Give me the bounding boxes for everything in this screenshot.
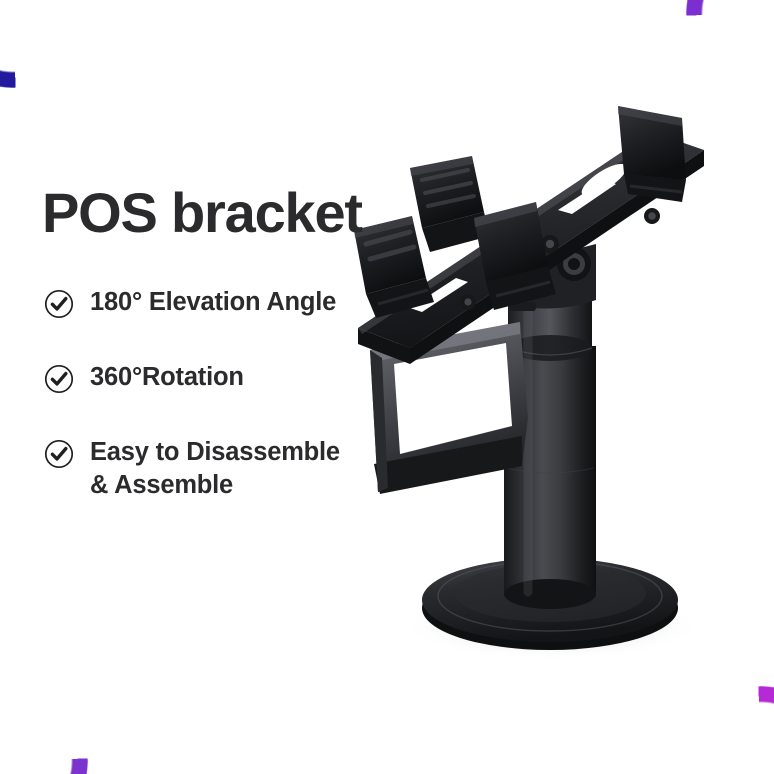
feature-item: 180° Elevation Angle — [44, 286, 440, 319]
feature-item: Easy to Disassemble & Assemble — [44, 436, 440, 502]
corner-accent-top-right — [686, 0, 774, 88]
check-circle-icon — [44, 364, 74, 394]
corner-arc-bottom-right — [686, 686, 774, 774]
check-circle-icon — [44, 289, 74, 319]
corner-accent-bottom-right — [686, 686, 774, 774]
text-column: POS bracket 180° Elevation Angle360°Rota… — [40, 0, 440, 774]
page-title: POS bracket — [42, 185, 362, 241]
check-circle-icon — [44, 439, 74, 469]
feature-item: 360°Rotation — [44, 361, 440, 394]
feature-label: 360°Rotation — [90, 361, 244, 394]
feature-label: 180° Elevation Angle — [90, 286, 336, 319]
product-feature-poster: POS bracket 180° Elevation Angle360°Rota… — [0, 0, 774, 774]
feature-label: Easy to Disassemble & Assemble — [90, 436, 340, 502]
clamp-pad-rear-right — [618, 106, 686, 202]
feature-list: 180° Elevation Angle360°RotationEasy to … — [44, 286, 440, 503]
corner-arc-top-right — [686, 0, 774, 88]
